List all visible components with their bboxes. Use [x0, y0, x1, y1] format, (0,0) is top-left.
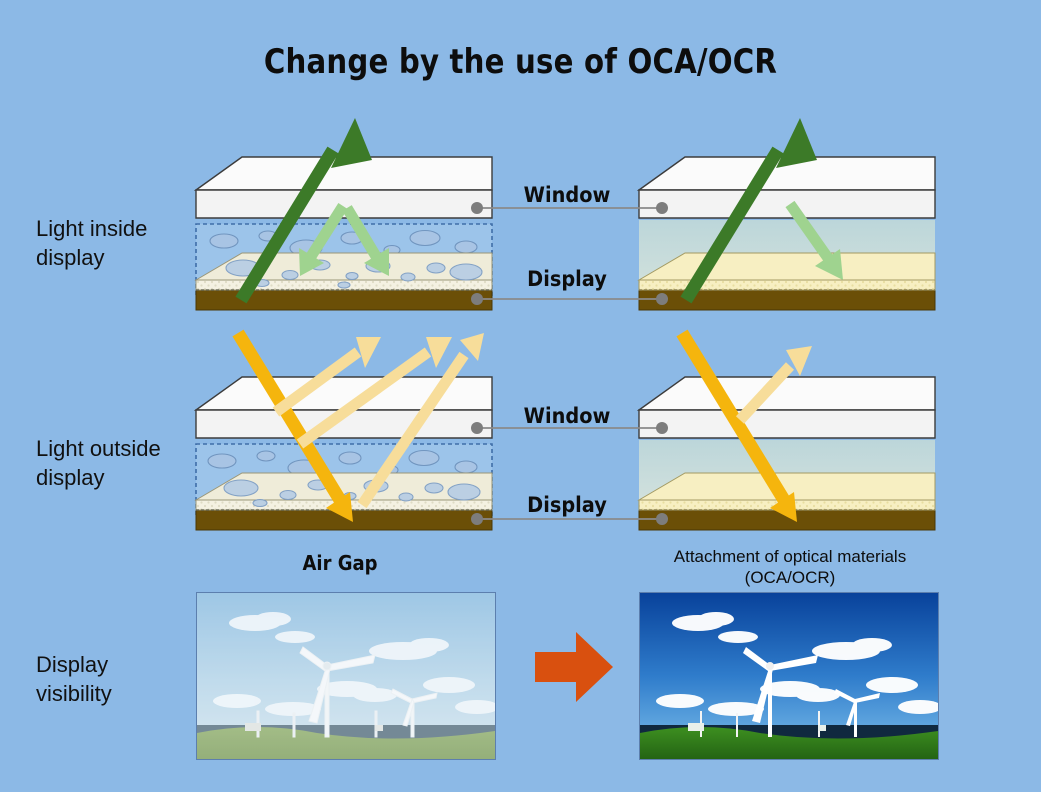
light-arrows-bottom-right	[682, 333, 812, 522]
caption-oca-ocr: Attachment of optical materials (OCA/OCR…	[650, 546, 930, 588]
center-label-window-bottom: Window	[475, 404, 659, 428]
air-gap-region-bottom-left	[196, 444, 492, 516]
display-base-top-right	[639, 260, 935, 310]
photo-display-high-contrast	[639, 592, 939, 760]
display-base-bottom-right	[639, 480, 935, 530]
connector-dot-display-left	[471, 293, 483, 305]
page-title: Change by the use of OCA/OCR	[73, 42, 968, 82]
center-label-display-bottom: Display	[475, 493, 659, 517]
display-base-bottom-left	[196, 480, 492, 530]
diagram-canvas: Change by the use of OCA/OCR Light insid…	[0, 0, 1041, 792]
air-gap-region-top-left	[196, 224, 492, 296]
connector-dot-display-right	[656, 293, 668, 305]
light-arrows-bottom-left	[238, 333, 484, 522]
row-label-display-visibility: Display visibility	[36, 650, 112, 708]
light-arrows-top-left	[241, 118, 389, 300]
display-layer-bottom-left	[196, 473, 492, 510]
photo-display-low-contrast	[196, 592, 496, 760]
row-label-light-inside: Light inside display	[36, 214, 147, 272]
window-slab-bottom-left	[196, 377, 492, 438]
oca-region-bottom-right	[639, 440, 935, 516]
display-layer-top-right	[639, 253, 935, 290]
display-layer-bottom-right	[639, 473, 935, 510]
row-label-light-outside: Light outside display	[36, 434, 161, 492]
caption-air-gap: Air Gap	[250, 551, 430, 575]
center-label-display-top: Display	[475, 267, 659, 291]
window-slab-top-right	[639, 157, 935, 218]
window-slab-top-left	[196, 157, 492, 218]
window-slab-bottom-right	[639, 377, 935, 438]
display-base-top-left	[196, 260, 492, 310]
center-label-window-top: Window	[475, 183, 659, 207]
display-layer-top-left	[196, 253, 492, 290]
oca-region-top-right	[639, 220, 935, 296]
right-arrow-icon	[535, 632, 613, 702]
light-arrows-top-right	[686, 118, 843, 300]
